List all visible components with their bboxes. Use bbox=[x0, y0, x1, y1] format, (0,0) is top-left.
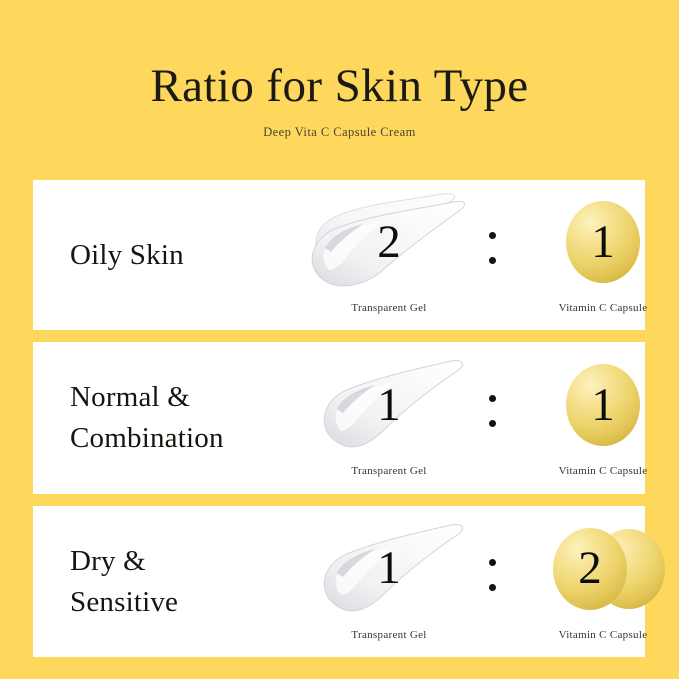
ratio-card-list: Oily Skin bbox=[33, 180, 645, 657]
gel-item: 2 Transparent Gel bbox=[299, 180, 479, 330]
separator-dot bbox=[489, 559, 496, 566]
page-title: Ratio for Skin Type bbox=[0, 62, 679, 111]
ratio-row-oily: Oily Skin bbox=[33, 180, 645, 330]
ratio-visual-group: 1 Transparent Gel 1 Vitamin C Capsule bbox=[298, 342, 645, 494]
capsule-item: 1 Vitamin C Capsule bbox=[513, 180, 679, 330]
ratio-row-dry-sensitive: Dry & Sensitive bbox=[33, 506, 645, 657]
skin-type-line: Sensitive bbox=[70, 582, 298, 623]
capsule-amount: 1 bbox=[591, 219, 615, 266]
gel-caption: Transparent Gel bbox=[351, 629, 426, 641]
gel-visual: 2 bbox=[309, 196, 469, 288]
capsule-caption: Vitamin C Capsule bbox=[559, 302, 648, 314]
skin-type-label: Normal & Combination bbox=[33, 377, 298, 459]
capsule-visual: 1 bbox=[523, 196, 679, 288]
skin-type-line: Combination bbox=[70, 418, 298, 459]
capsule-amount: 1 bbox=[591, 382, 615, 429]
ratio-visual-group: 1 Transparent Gel 2 Vitamin C Capsule bbox=[298, 506, 645, 657]
skin-type-label: Oily Skin bbox=[33, 235, 298, 276]
capsule-item: 1 Vitamin C Capsule bbox=[513, 342, 679, 494]
gel-amount: 1 bbox=[377, 545, 401, 592]
gel-item: 1 Transparent Gel bbox=[299, 506, 479, 657]
ratio-visual-group: 2 Transparent Gel 1 Vitamin C Capsule bbox=[298, 180, 645, 330]
skin-type-line: Dry & bbox=[70, 541, 298, 582]
ratio-poster: Ratio for Skin Type Deep Vita C Capsule … bbox=[0, 0, 679, 679]
separator-dot bbox=[489, 584, 496, 591]
gel-visual: 1 bbox=[309, 523, 469, 615]
separator-dot bbox=[489, 232, 496, 239]
separator-dot bbox=[489, 420, 496, 427]
gel-caption: Transparent Gel bbox=[351, 465, 426, 477]
capsule-amount: 2 bbox=[578, 545, 602, 592]
capsule-visual: 1 bbox=[523, 359, 679, 451]
gel-amount: 2 bbox=[377, 219, 401, 266]
capsule-caption: Vitamin C Capsule bbox=[559, 465, 648, 477]
gel-item: 1 Transparent Gel bbox=[299, 342, 479, 494]
gel-caption: Transparent Gel bbox=[351, 302, 426, 314]
capsule-item: 2 Vitamin C Capsule bbox=[513, 506, 679, 657]
poster-header: Ratio for Skin Type Deep Vita C Capsule … bbox=[0, 0, 679, 140]
separator-dot bbox=[489, 395, 496, 402]
skin-type-line: Oily Skin bbox=[70, 235, 298, 276]
page-subtitle: Deep Vita C Capsule Cream bbox=[0, 125, 679, 140]
capsule-caption: Vitamin C Capsule bbox=[559, 629, 648, 641]
separator-dot bbox=[489, 257, 496, 264]
skin-type-label: Dry & Sensitive bbox=[33, 541, 298, 623]
gel-visual: 1 bbox=[309, 359, 469, 451]
ratio-separator bbox=[489, 232, 496, 264]
skin-type-line: Normal & bbox=[70, 377, 298, 418]
ratio-row-normal-combination: Normal & Combination bbox=[33, 342, 645, 494]
gel-amount: 1 bbox=[377, 382, 401, 429]
ratio-separator bbox=[489, 395, 496, 427]
capsule-visual: 2 bbox=[523, 523, 679, 615]
ratio-separator bbox=[489, 559, 496, 591]
